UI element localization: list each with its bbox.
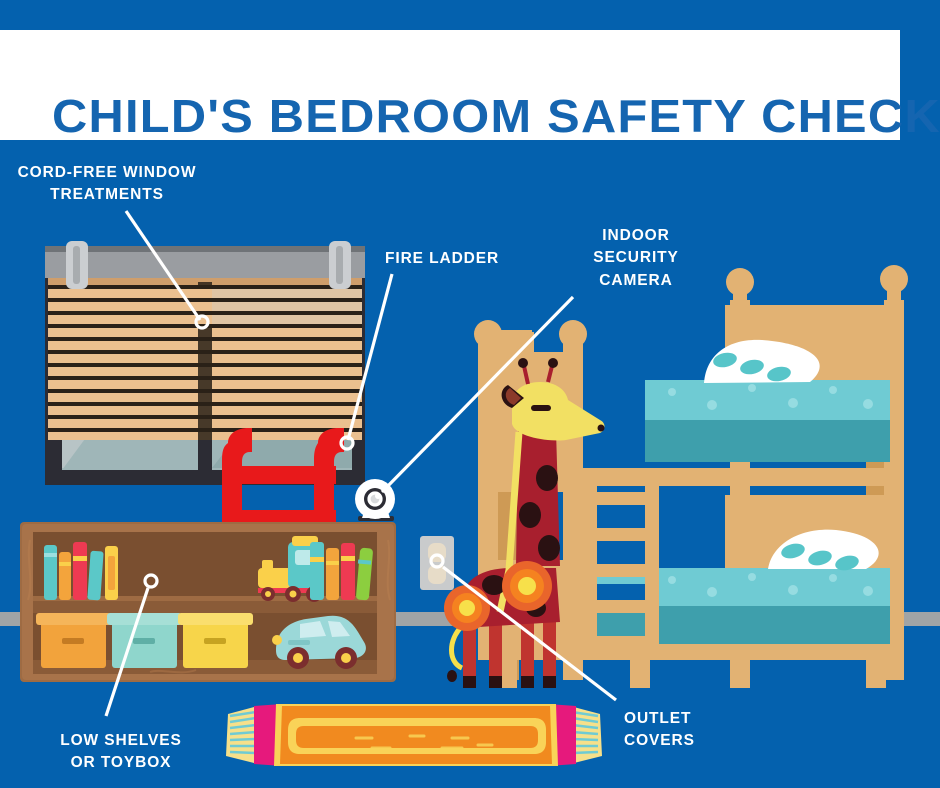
low-shelves-or-toybox (20, 522, 396, 682)
book (59, 552, 71, 600)
mattress-top (645, 380, 890, 420)
storage-bin-orange (36, 613, 111, 668)
storage-bin-yellow (178, 613, 253, 668)
callout-label-cord-free-window-treatments: CORD-FREE WINDOW TREATMENTS (14, 162, 200, 207)
book (341, 543, 355, 600)
storage-bin-mint (107, 613, 182, 668)
callout-label-indoor-security-camera: INDOOR SECURITY CAMERA (572, 225, 700, 292)
book (326, 548, 339, 600)
mattress-bottom (645, 568, 890, 606)
area-rug (226, 704, 602, 766)
book (310, 542, 324, 600)
callout-label-fire-ladder: FIRE LADDER (385, 248, 525, 270)
book (73, 542, 87, 600)
callout-label-low-shelves-or-toybox: LOW SHELVES OR TOYBOX (36, 730, 206, 775)
page-title: CHILD'S BEDROOM SAFETY CHECKLIST (52, 61, 940, 171)
outlet-cover (420, 536, 454, 590)
blind-slats (48, 278, 362, 440)
callout-label-outlet-covers: OUTLET COVERS (624, 708, 784, 753)
infographic-root: CHILD'S BEDROOM SAFETY CHECKLIST CORD-FR… (0, 0, 940, 788)
